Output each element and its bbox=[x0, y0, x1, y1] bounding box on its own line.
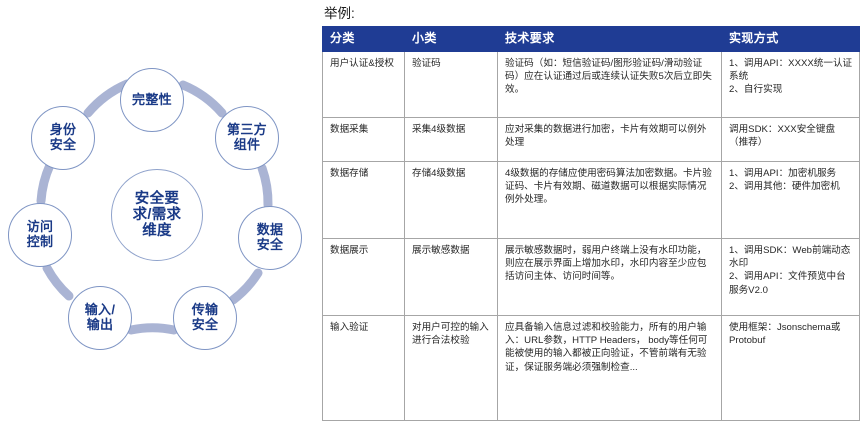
diagram-node-label: 数据 安全 bbox=[257, 223, 284, 252]
cell-requirement: 4级数据的存储应使用密码算法加密数据。卡片验证码、卡片有效期、磁道数据可以根据实… bbox=[498, 162, 722, 239]
table-row: 数据采集 采集4级数据 应对采集的数据进行加密，卡片有效期可以例外处理 调用SD… bbox=[323, 118, 860, 162]
diagram-node-label: 第三方 组件 bbox=[227, 123, 267, 152]
diagram-node-label: 完整性 bbox=[132, 93, 172, 108]
ring-arc-io-transmission bbox=[131, 328, 174, 330]
ring-arc-data-transmission bbox=[233, 273, 258, 300]
cell-requirement: 应具备输入信息过滤和校验能力，所有的用户输入：URL参数，HTTP Header… bbox=[498, 316, 722, 421]
diagram-node-transmission-security: 传输 安全 bbox=[173, 286, 237, 350]
cell-subcategory: 采集4级数据 bbox=[405, 118, 498, 162]
examples-panel: 举例: 分类 小类 技术要求 实现方式 用户认证&授权 验证码 验证码（如：短信… bbox=[320, 0, 861, 400]
column-header-category: 分类 bbox=[323, 27, 405, 52]
diagram-node-data-security: 数据 安全 bbox=[238, 206, 302, 270]
table-caption: 举例: bbox=[324, 2, 355, 22]
cell-category: 数据展示 bbox=[323, 239, 405, 316]
diagram-node-access-control: 访问 控制 bbox=[8, 203, 72, 267]
cell-requirement: 应对采集的数据进行加密，卡片有效期可以例外处理 bbox=[498, 118, 722, 162]
cell-requirement: 验证码（如：短信验证码/图形验证码/滑动验证码）应在认证通过后或连续认证失败5次… bbox=[498, 52, 722, 118]
diagram-node-input-output: 输入/ 输出 bbox=[68, 286, 132, 350]
table-row: 输入验证 对用户可控的输入进行合法校验 应具备输入信息过滤和校验能力，所有的用户… bbox=[323, 316, 860, 421]
diagram-node-label: 访问 控制 bbox=[27, 220, 54, 249]
cell-category: 数据采集 bbox=[323, 118, 405, 162]
cell-category: 用户认证&授权 bbox=[323, 52, 405, 118]
cell-implementation: 1、调用SDK：Web前端动态水印 2、调用API：文件预览中台服务V2.0 bbox=[722, 239, 860, 316]
cell-category: 输入验证 bbox=[323, 316, 405, 421]
diagram-center-label: 安全要 求/需求 维度 bbox=[133, 191, 182, 240]
cell-requirement: 展示敏感数据时，弱用户终端上没有水印功能，则应在展示界面上增加水印，水印内容至少… bbox=[498, 239, 722, 316]
column-header-requirement: 技术要求 bbox=[498, 27, 722, 52]
security-requirements-table: 分类 小类 技术要求 实现方式 用户认证&授权 验证码 验证码（如：短信验证码/… bbox=[322, 26, 860, 421]
cell-implementation: 调用SDK：XXX安全键盘（推荐） bbox=[722, 118, 860, 162]
column-header-subcategory: 小类 bbox=[405, 27, 498, 52]
diagram-node-integrity: 完整性 bbox=[120, 68, 184, 132]
diagram-node-label: 输入/ 输出 bbox=[85, 303, 116, 332]
cell-subcategory: 存储4级数据 bbox=[405, 162, 498, 239]
diagram-node-third-party-components: 第三方 组件 bbox=[215, 106, 279, 170]
cell-implementation: 1、调用API：加密机服务 2、调用其他：硬件加密机 bbox=[722, 162, 860, 239]
diagram-node-label: 传输 安全 bbox=[192, 303, 219, 332]
table-header-row: 分类 小类 技术要求 实现方式 bbox=[323, 27, 860, 52]
cell-implementation: 使用框架：Jsonschema或Protobuf bbox=[722, 316, 860, 421]
ring-arc-access-io bbox=[47, 268, 69, 296]
cell-implementation: 1、调用API：XXXX统一认证系统 2、自行实现 bbox=[722, 52, 860, 118]
column-header-implementation: 实现方式 bbox=[722, 27, 860, 52]
ring-arc-thirdparty-data bbox=[262, 168, 268, 205]
table-row: 数据存储 存储4级数据 4级数据的存储应使用密码算法加密数据。卡片验证码、卡片有… bbox=[323, 162, 860, 239]
table-row: 用户认证&授权 验证码 验证码（如：短信验证码/图形验证码/滑动验证码）应在认证… bbox=[323, 52, 860, 118]
table-row: 数据展示 展示敏感数据 展示敏感数据时，弱用户终端上没有水印功能，则应在展示界面… bbox=[323, 239, 860, 316]
security-dimensions-diagram: 安全要 求/需求 维度 完整性 第三方 组件 数据 安全 传输 安全 输入/ 输… bbox=[0, 0, 320, 400]
cell-subcategory: 展示敏感数据 bbox=[405, 239, 498, 316]
diagram-node-identity-security: 身份 安全 bbox=[31, 106, 95, 170]
cell-subcategory: 对用户可控的输入进行合法校验 bbox=[405, 316, 498, 421]
diagram-center-node: 安全要 求/需求 维度 bbox=[111, 169, 203, 261]
cell-subcategory: 验证码 bbox=[405, 52, 498, 118]
ring-arc-integrity-thirdparty bbox=[183, 85, 222, 113]
ring-arc-access-identity bbox=[41, 165, 50, 201]
diagram-node-label: 身份 安全 bbox=[50, 123, 77, 152]
cell-category: 数据存储 bbox=[323, 162, 405, 239]
